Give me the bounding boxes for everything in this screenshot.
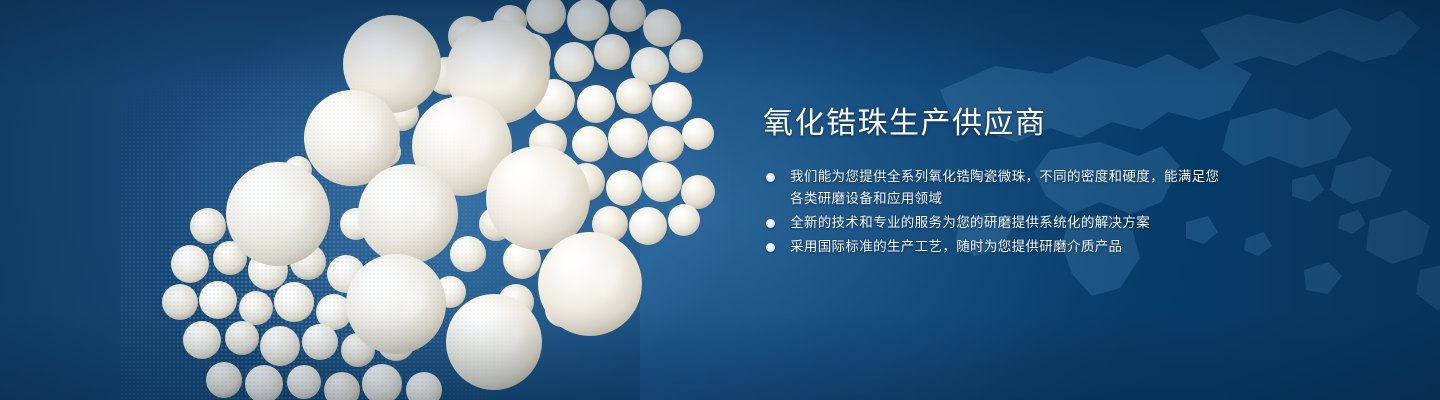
list-item-label: 我们能为您提供全系列氧化锆陶瓷微珠，不同的密度和硬度，能满足您各类研磨设备和应用… [790,169,1219,206]
bullet-circle-icon [766,243,775,252]
banner-copy: 氧化锆珠生产供应商 我们能为您提供全系列氧化锆陶瓷微珠，不同的密度和硬度，能满足… [763,104,1233,260]
bullet-circle-icon [766,173,775,182]
list-item: 我们能为您提供全系列氧化锆陶瓷微珠，不同的密度和硬度，能满足您各类研磨设备和应用… [763,166,1233,210]
bullet-circle-icon [766,219,775,228]
list-item: 全新的技术和专业的服务为您的研磨提供系统化的解决方案 [763,212,1233,234]
list-item-label: 全新的技术和专业的服务为您的研磨提供系统化的解决方案 [790,215,1150,230]
hero-banner: 氧化锆珠生产供应商 我们能为您提供全系列氧化锆陶瓷微珠，不同的密度和硬度，能满足… [0,0,1440,400]
list-item-label: 采用国际标准的生产工艺，随时为您提供研磨介质产品 [790,239,1122,254]
page-title: 氧化锆珠生产供应商 [763,104,1233,144]
feature-list: 我们能为您提供全系列氧化锆陶瓷微珠，不同的密度和硬度，能满足您各类研磨设备和应用… [763,166,1233,258]
list-item: 采用国际标准的生产工艺，随时为您提供研磨介质产品 [763,236,1233,258]
